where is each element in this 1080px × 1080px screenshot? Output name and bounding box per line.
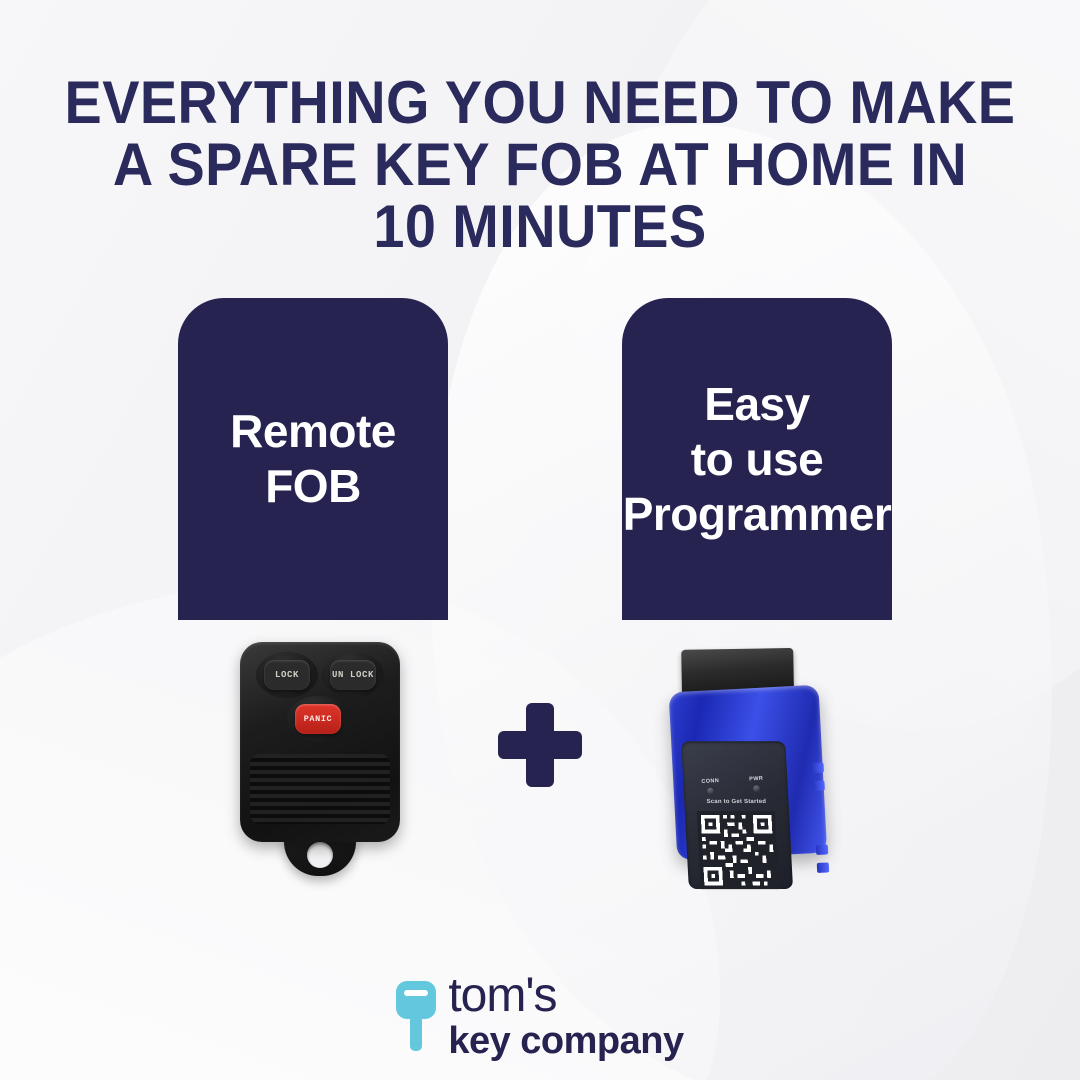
brand-name-line-2: key company — [448, 1022, 683, 1060]
key-fob-grip-grooves — [250, 754, 390, 824]
headline-line-3: 10 MINUTES — [38, 196, 1042, 258]
plus-bar-vertical — [526, 703, 554, 787]
brand-name-line-1: tom's — [448, 972, 683, 1020]
key-fob-body: LOCK UN LOCK PANIC — [240, 642, 400, 842]
obd-side-notch — [811, 763, 824, 774]
card-programmer: Easy to use Programmer — [622, 298, 892, 620]
key-icon — [396, 981, 436, 1051]
plus-icon — [498, 703, 582, 787]
key-fob-button-panic: PANIC — [295, 704, 341, 734]
brand-logo-text: tom's key company — [448, 972, 683, 1060]
card-left-line-1: Remote — [230, 404, 396, 459]
key-icon-stem — [410, 1015, 422, 1051]
obd-led-pwr: PWR — [739, 775, 774, 793]
card-right-line-3: Programmer — [623, 487, 892, 542]
key-icon-slot — [404, 990, 428, 996]
obd-side-notch — [816, 844, 829, 855]
key-icon-head — [396, 981, 436, 1019]
obd-programmer-body: CONN PWR Scan to Get Started — [669, 685, 828, 861]
card-right-line-2: to use — [623, 432, 892, 487]
obd-led-pwr-label: PWR — [749, 776, 763, 783]
brand-logo: tom's key company — [0, 972, 1080, 1060]
qr-code — [697, 811, 779, 889]
obd-led-pwr-dot — [752, 784, 760, 792]
headline-line-1: EVERYTHING YOU NEED TO MAKE — [38, 72, 1042, 134]
card-right-line-1: Easy — [623, 377, 892, 432]
headline-line-2: A SPARE KEY FOB AT HOME IN — [38, 134, 1042, 196]
poster-canvas: EVERYTHING YOU NEED TO MAKE A SPARE KEY … — [0, 0, 1080, 1080]
card-left-line-2: FOB — [230, 459, 396, 514]
headline: EVERYTHING YOU NEED TO MAKE A SPARE KEY … — [38, 72, 1042, 258]
key-fob-keyring-hole — [307, 842, 333, 868]
key-fob-button-unlock: UN LOCK — [330, 660, 376, 690]
obd-side-notch — [817, 862, 830, 873]
obd-programmer-image: CONN PWR Scan to Get Started — [666, 644, 847, 868]
key-fob-image: LOCK UN LOCK PANIC — [240, 642, 400, 874]
card-remote-fob: Remote FOB — [178, 298, 448, 620]
obd-scan-label: Scan to Get Started — [688, 799, 784, 805]
card-programmer-text: Easy to use Programmer — [623, 377, 892, 542]
obd-led-conn-dot — [707, 786, 715, 794]
card-remote-fob-text: Remote FOB — [230, 404, 396, 514]
key-fob-button-lock: LOCK — [264, 660, 310, 690]
obd-side-notch — [812, 781, 825, 792]
obd-led-conn: CONN — [693, 778, 728, 796]
obd-led-conn-label: CONN — [701, 778, 719, 785]
